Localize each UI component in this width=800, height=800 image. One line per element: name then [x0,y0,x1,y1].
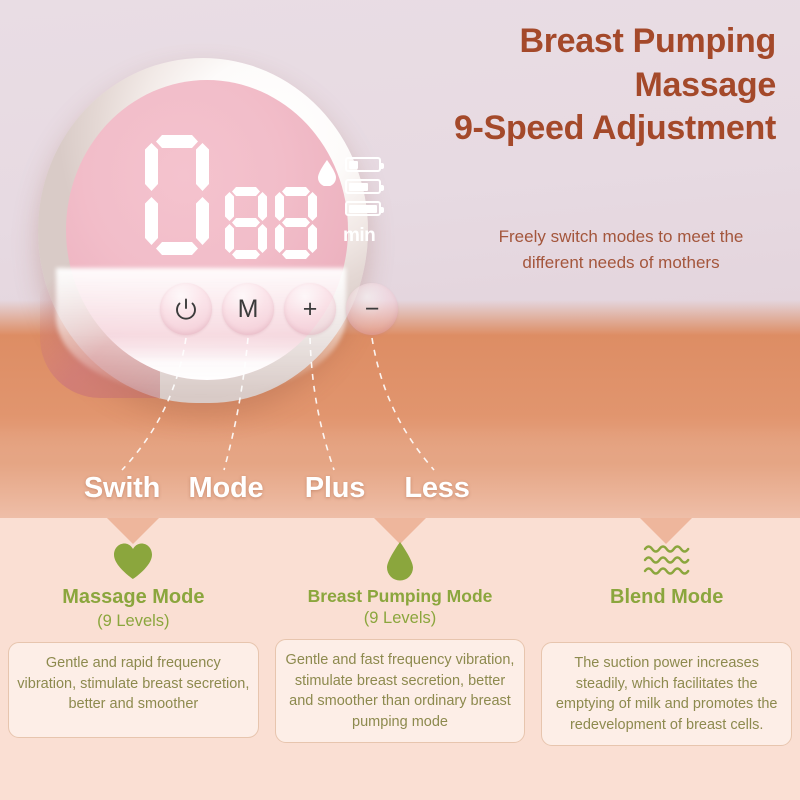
mode-column-pumping: Breast Pumping Mode (9 Levels) Gentle an… [267,540,534,746]
callout-less: Less [372,472,502,505]
mode-title-massage: Massage Mode [62,586,204,609]
droplet-icon [385,540,415,582]
leader-line-mode [224,338,248,470]
mode-levels-massage: (9 Levels) [97,612,169,632]
waves-icon [642,540,692,582]
leader-line-swith [122,338,186,470]
mode-column-blend: Blend Mode The suction power increases s… [533,540,800,746]
mode-levels-pumping: (9 Levels) [364,609,436,629]
product-infographic: Breast Pumping Massage 9-Speed Adjustmen… [0,0,800,800]
callout-labels: Swith Mode Plus Less [0,472,800,514]
mode-title-blend: Blend Mode [610,586,723,609]
mode-description-massage: Gentle and rapid frequency vibration, st… [8,642,259,738]
mode-title-pumping: Breast Pumping Mode [308,586,493,606]
leader-line-plus [310,338,334,470]
mode-description-pumping: Gentle and fast frequency vibration, sti… [275,639,526,743]
mode-column-massage: Massage Mode (9 Levels) Gentle and rapid… [0,540,267,746]
mode-sections: Massage Mode (9 Levels) Gentle and rapid… [0,540,800,746]
heart-icon [112,540,154,582]
leader-line-less [372,338,434,470]
mode-description-blend: The suction power increases steadily, wh… [541,642,792,746]
